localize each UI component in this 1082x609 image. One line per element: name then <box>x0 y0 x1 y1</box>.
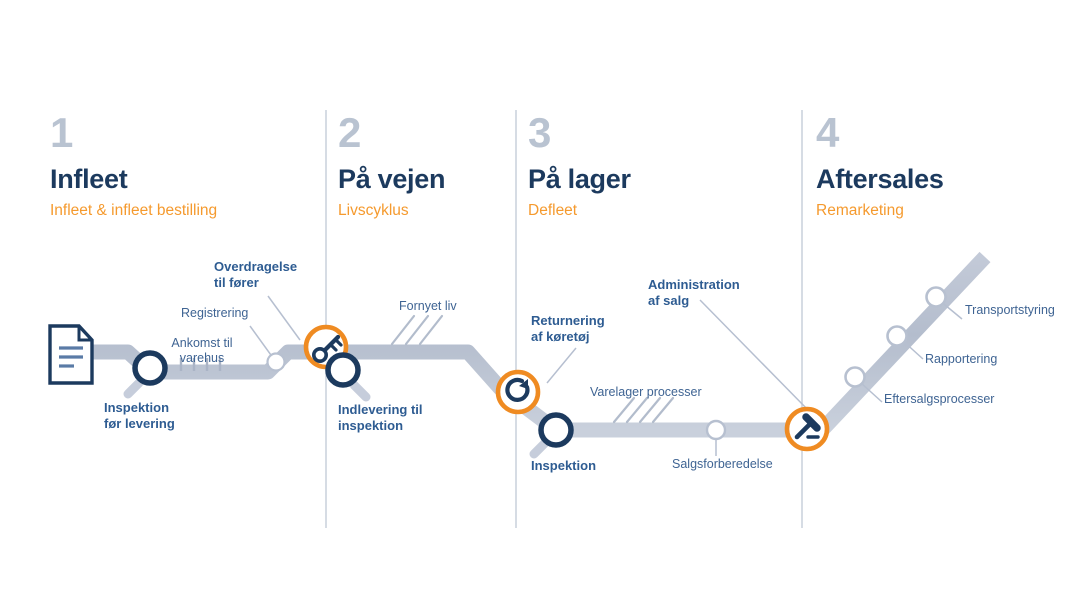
stage-title-1: Infleet <box>50 164 217 195</box>
node-eftersalgsprocesser[interactable] <box>846 368 865 387</box>
stage-number-3: 3 <box>528 112 631 154</box>
node-registrering[interactable] <box>268 354 285 371</box>
stage-subtitle-4: Remarketing <box>816 202 944 221</box>
hatch-marks-icon-fornyet-liv <box>392 316 442 344</box>
leader-returnering <box>547 348 576 383</box>
stage-number-4: 4 <box>816 112 944 154</box>
label-ankomst-til-varehus: Ankomst til varehus <box>152 336 252 367</box>
leader-administration <box>700 300 810 412</box>
label-inspektion: Inspektion <box>531 458 596 474</box>
stage-subtitle-2: Livscyklus <box>338 202 445 221</box>
stage-header-2: 2 På vejen Livscyklus <box>338 112 445 221</box>
stage-title-3: På lager <box>528 164 631 195</box>
label-inspektion-foer-levering: Inspektion før levering <box>104 400 175 432</box>
journey-diagram <box>0 0 1082 609</box>
label-transportstyring: Transportstyring <box>965 303 1055 318</box>
label-overdragelse-til-foerer: Overdragelse til fører <box>214 259 297 291</box>
stage-header-3: 3 På lager Defleet <box>528 112 631 221</box>
label-rapportering: Rapportering <box>925 352 997 367</box>
label-returnering-af-koeretoej: Returnering af køretøj <box>531 313 605 345</box>
label-indlevering-til-inspektion: Indlevering til inspektion <box>338 402 423 434</box>
gavel-icon-node[interactable] <box>787 409 827 449</box>
stage-subtitle-1: Infleet & infleet bestilling <box>50 202 217 221</box>
label-registrering: Registrering <box>181 306 248 321</box>
stage-number-2: 2 <box>338 112 445 154</box>
stage-subtitle-3: Defleet <box>528 202 631 221</box>
label-eftersalgsprocesser: Eftersalgsprocesser <box>884 392 994 407</box>
stage-number-1: 1 <box>50 112 217 154</box>
hatch-marks-icon-varelager <box>614 398 673 422</box>
label-fornyet-liv: Fornyet liv <box>399 299 457 314</box>
node-rapportering[interactable] <box>888 327 907 346</box>
label-administration-af-salg: Administration af salg <box>648 277 740 309</box>
stage-title-2: På vejen <box>338 164 445 195</box>
stage-title-4: Aftersales <box>816 164 944 195</box>
document-icon <box>50 326 92 383</box>
magnifier-icon-indlevering[interactable] <box>328 355 366 397</box>
node-salgsforberedelse[interactable] <box>707 421 725 439</box>
label-salgsforberedelse: Salgsforberedelse <box>672 457 773 472</box>
stage-header-1: 1 Infleet Infleet & infleet bestilling <box>50 112 217 221</box>
return-arrow-icon-node[interactable] <box>498 372 538 412</box>
leader-overdragelse <box>268 296 300 340</box>
stage-header-4: 4 Aftersales Remarketing <box>816 112 944 221</box>
label-varelager-processer: Varelager processer <box>590 385 702 400</box>
node-transportstyring[interactable] <box>927 288 946 307</box>
